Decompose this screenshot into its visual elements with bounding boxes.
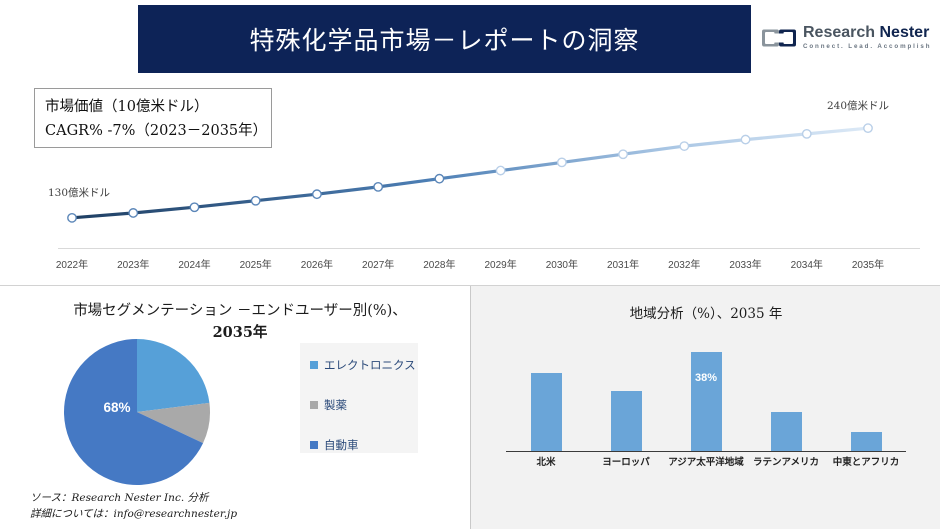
chain-link-icon [762, 26, 796, 50]
regional-bar-chart: 38% [506, 346, 906, 452]
legend-swatch-icon [310, 441, 318, 449]
page-title: 特殊化学品市場－レポートの洞察 [249, 21, 639, 57]
bar [611, 391, 642, 451]
pie-data-label: 68% [87, 400, 147, 415]
footer-source: ソース：Research Nester Inc. 分析 [30, 491, 430, 507]
line-data-point [313, 190, 321, 198]
bar [531, 373, 562, 451]
report-infographic: 特殊化学品市場－レポートの洞察 Research Nester Connect.… [0, 0, 940, 529]
line-data-point [680, 142, 688, 150]
bar-category-label: ラテンアメリカ [753, 454, 819, 468]
line-data-point [496, 166, 504, 174]
year-tick-label: 2024年 [178, 256, 210, 271]
bar-chart-category-axis: 北米ヨーロッパアジア太平洋地域ラテンアメリカ中東とアフリカ [506, 454, 906, 472]
legend-label: 製薬 [324, 397, 347, 413]
legend-swatch-icon [310, 361, 318, 369]
line-data-point [374, 183, 382, 191]
legend-label: エレクトロニクス [324, 357, 416, 373]
year-tick-label: 2029年 [484, 256, 516, 271]
bar [851, 432, 882, 450]
bar-category-label: 中東とアフリカ [833, 454, 900, 468]
logo-name: Research Nester [803, 25, 931, 41]
line-data-point [619, 150, 627, 158]
year-tick-label: 2030年 [546, 256, 578, 271]
line-data-point [558, 158, 566, 166]
logo-tagline: Connect. Lead. Accomplish [803, 44, 931, 50]
legend-label: 自動車 [324, 437, 359, 453]
logo-text: Research Nester Connect. Lead. Accomplis… [803, 25, 931, 50]
line-data-point [864, 124, 872, 132]
year-tick-label: 2035年 [852, 256, 884, 271]
bar: 38% [691, 352, 722, 451]
line-data-point [803, 130, 811, 138]
year-tick-label: 2031年 [607, 256, 639, 271]
year-tick-label: 2027年 [362, 256, 394, 271]
bar-category-label: アジア太平洋地域 [668, 454, 744, 468]
line-chart-plot [0, 74, 940, 281]
legend-item[interactable]: エレクトロニクス [310, 357, 418, 373]
year-tick-label: 2022年 [56, 256, 88, 271]
year-tick-label: 2032年 [668, 256, 700, 271]
line-data-point [68, 214, 76, 222]
legend-swatch-icon [310, 401, 318, 409]
company-logo: Research Nester Connect. Lead. Accomplis… [762, 18, 934, 58]
legend-item[interactable]: 製薬 [310, 397, 418, 413]
bar-category-label: 北米 [536, 454, 555, 468]
segmentation-pie-chart: 68% [63, 338, 211, 486]
market-value-line-chart: 130億米ドル 240億米ドル [0, 74, 940, 281]
line-data-point [251, 197, 259, 205]
year-tick-label: 2023年 [117, 256, 149, 271]
bar-data-label: 38% [691, 372, 722, 384]
year-tick-label: 2026年 [301, 256, 333, 271]
source-footer: ソース：Research Nester Inc. 分析 詳細については：info… [30, 491, 430, 523]
year-tick-label: 2025年 [240, 256, 272, 271]
line-data-point [190, 203, 198, 211]
bar-chart-baseline [506, 451, 906, 453]
line-data-point [741, 135, 749, 143]
regional-analysis-title: 地域分析（%）、2035 年 [546, 302, 866, 322]
pie-slice [137, 339, 209, 412]
line-data-point [129, 209, 137, 217]
bar-category-label: ヨーロッパ [602, 454, 650, 468]
year-tick-label: 2033年 [729, 256, 761, 271]
line-data-point [435, 175, 443, 183]
bar [771, 412, 802, 451]
year-tick-label: 2028年 [423, 256, 455, 271]
year-tick-label: 2034年 [791, 256, 823, 271]
line-chart-year-axis: 2022年2023年2024年2025年2026年2027年2028年2029年… [0, 256, 940, 278]
footer-contact: 詳細については：info@researchnester.jp [30, 507, 430, 523]
regional-analysis-panel: 地域分析（%）、2035 年 38% 北米ヨーロッパアジア太平洋地域ラテンアメリ… [471, 286, 940, 529]
title-banner: 特殊化学品市場－レポートの洞察 [138, 5, 751, 73]
legend-item[interactable]: 自動車 [310, 437, 418, 453]
pie-legend: エレクトロニクス製薬自動車 [300, 343, 418, 453]
